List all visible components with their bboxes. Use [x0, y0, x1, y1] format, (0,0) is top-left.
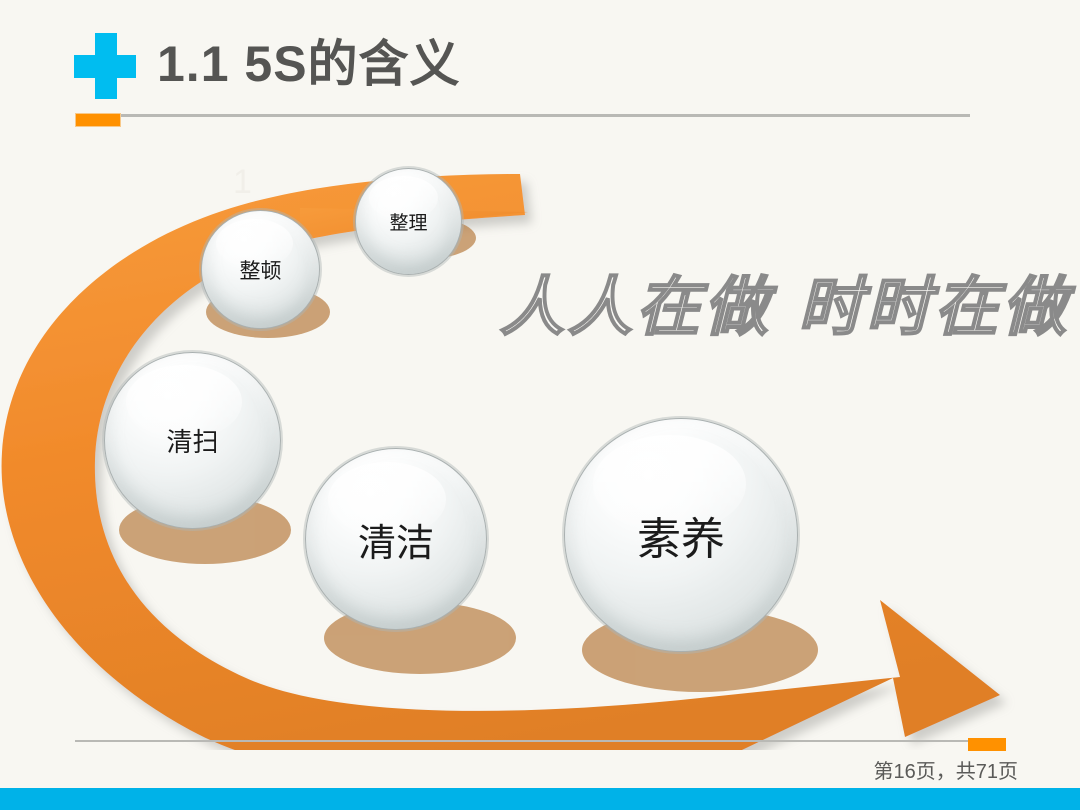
footer-divider [75, 740, 1005, 742]
plus-icon [74, 33, 136, 99]
step-label: 整理 [389, 208, 427, 235]
footer-accent-tab [968, 738, 1006, 751]
slogan-text: 人人在做 时时在做 [500, 272, 1070, 344]
step-label: 清洁 [358, 512, 434, 567]
slide: 1.1 5S的含义 [0, 0, 1080, 810]
step-sphere-qingjie[interactable]: 清洁 [305, 448, 487, 630]
step-sphere-zhengdun[interactable]: 整顿 [201, 210, 320, 329]
step-sphere-zhengli[interactable]: 整理 [355, 168, 462, 275]
step-sphere-suyang[interactable]: 素养 [564, 418, 798, 652]
bottom-accent-bar [0, 788, 1080, 810]
page-title: 1.1 5S的含义 [157, 33, 461, 95]
header-accent-tab [75, 113, 121, 127]
header-divider [75, 114, 970, 117]
step-label: 素养 [637, 503, 725, 567]
plus-icon-horizontal-bar [74, 55, 136, 78]
page-number: 第16页，共71页 [874, 755, 1019, 784]
step-label: 整顿 [240, 255, 282, 285]
watermark-number: 1 [233, 163, 252, 202]
step-sphere-qingsao[interactable]: 清扫 [104, 352, 281, 529]
step-label: 清扫 [166, 422, 218, 459]
